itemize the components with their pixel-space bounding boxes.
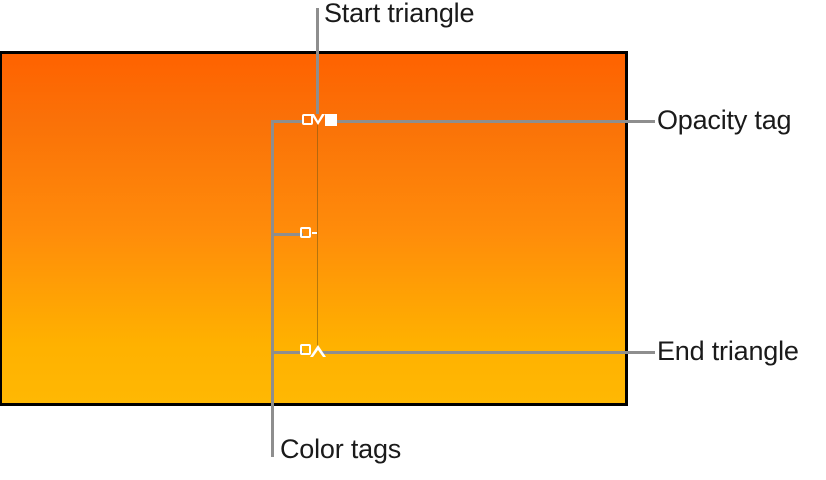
leader-line-color-tag-middle-arm — [271, 233, 303, 236]
end-triangle-marker[interactable] — [310, 345, 326, 357]
leader-line-color-tags-spine — [271, 120, 274, 457]
label-end-triangle: End triangle — [657, 336, 799, 367]
label-opacity-tag: Opacity tag — [657, 105, 791, 136]
color-tag-middle-marker[interactable] — [300, 227, 311, 238]
opacity-tag-marker[interactable] — [325, 114, 337, 126]
start-triangle-marker[interactable] — [311, 114, 325, 125]
leader-line-color-tag-top-arm — [271, 120, 303, 123]
gradient-axis-line — [317, 122, 318, 354]
leader-line-start-triangle — [316, 8, 319, 122]
color-tag-middle-stub — [312, 232, 317, 234]
label-start-triangle: Start triangle — [324, 0, 474, 29]
leader-line-color-tag-bottom-arm — [271, 351, 303, 354]
leader-line-end-triangle — [322, 351, 655, 354]
leader-line-opacity-tag — [332, 120, 655, 123]
triangle-up-inner — [313, 350, 323, 357]
label-color-tags: Color tags — [280, 434, 401, 465]
triangle-down-inner — [314, 114, 322, 121]
figure-canvas: Start triangle Opacity tag End triangle … — [0, 0, 826, 480]
